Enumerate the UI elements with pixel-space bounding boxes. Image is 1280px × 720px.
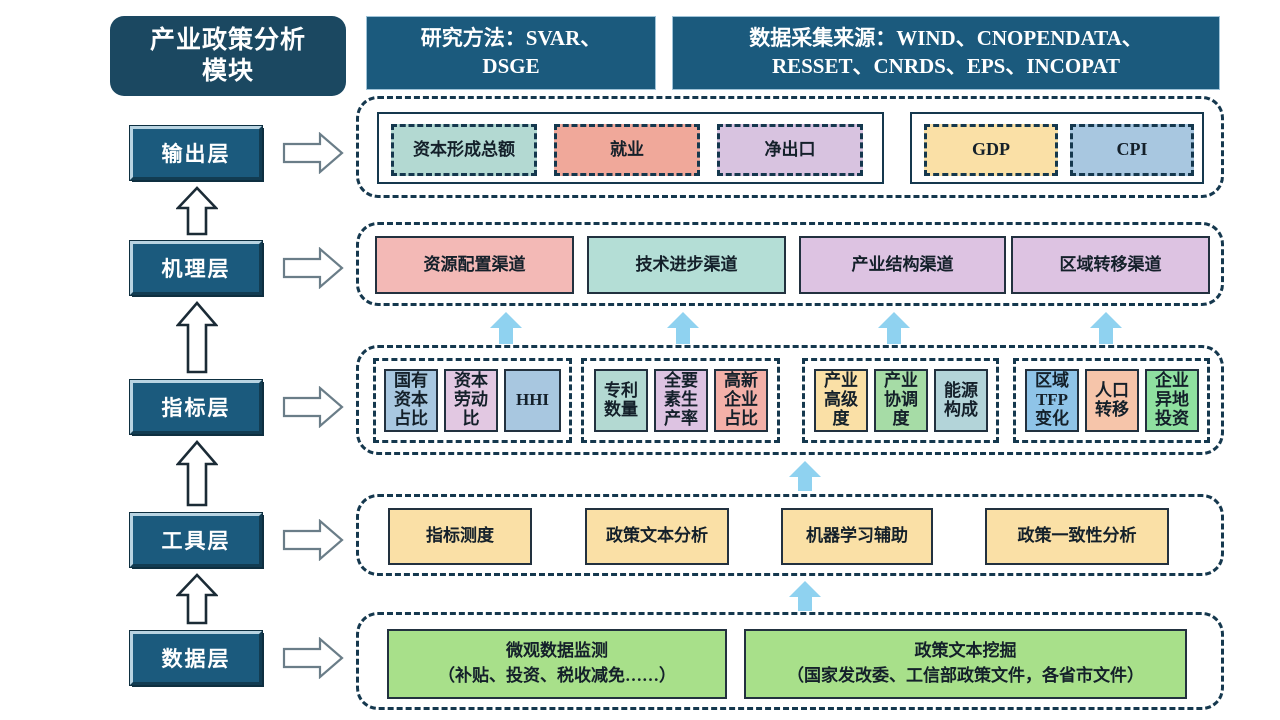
indicator-group-3: 产业高级度 产业协调度 能源构成 [802,358,999,443]
tool-item-indicator-measurement[interactable]: 指标测度 [388,508,532,565]
mechanism-item-industrial-structure[interactable]: 产业结构渠道 [799,236,1006,294]
layer-label-indicator[interactable]: 指标层 [130,380,262,434]
blue-up-arrow-icon [666,311,700,345]
layer-label-tool[interactable]: 工具层 [130,513,262,567]
diagram-canvas: 产业政策分析模块 研究方法：SVAR、DSGE 数据采集来源：WIND、CNOP… [0,0,1280,720]
output-group-domestic: 资本形成总额 就业 净出口 [377,112,884,184]
mechanism-layer-container: 资源配置渠道 技术进步渠道 产业结构渠道 区域转移渠道 [356,222,1224,306]
up-arrow-icon [176,301,218,374]
indicator-item-industry-upgrading[interactable]: 产业高级度 [814,369,868,432]
indicator-item-hhi[interactable]: HHI [504,369,561,432]
layer-label-data[interactable]: 数据层 [130,631,262,685]
indicator-item-state-capital-share[interactable]: 国有资本占比 [384,369,438,432]
indicator-item-regional-tfp-change[interactable]: 区域TFP变化 [1025,369,1079,432]
right-arrow-icon [282,247,344,289]
data-item-policy-text-mining[interactable]: 政策文本挖掘（国家发改委、工信部政策文件，各省市文件） [744,629,1187,699]
right-arrow-icon [282,519,344,561]
tool-item-policy-text-analysis[interactable]: 政策文本分析 [585,508,729,565]
output-layer-container: 资本形成总额 就业 净出口 GDP CPI [356,96,1224,198]
mechanism-item-regional-transfer[interactable]: 区域转移渠道 [1011,236,1210,294]
tool-layer-container: 指标测度 政策文本分析 机器学习辅助 政策一致性分析 [356,494,1224,576]
right-arrow-icon [282,386,344,428]
output-item-capital-formation[interactable]: 资本形成总额 [391,124,537,176]
indicator-item-population-migration[interactable]: 人口转移 [1085,369,1139,432]
up-arrow-icon [176,573,218,625]
layer-label-output[interactable]: 输出层 [130,126,262,180]
up-arrow-icon [176,440,218,507]
blue-up-arrow-icon [1089,311,1123,345]
indicator-item-patent-count[interactable]: 专利数量 [594,369,648,432]
tool-item-policy-consistency[interactable]: 政策一致性分析 [985,508,1169,565]
output-group-macro: GDP CPI [910,112,1204,184]
mechanism-item-tech-progress[interactable]: 技术进步渠道 [587,236,786,294]
data-source-box: 数据采集来源：WIND、CNOPENDATA、RESSET、CNRDS、EPS、… [672,16,1220,90]
indicator-item-energy-mix[interactable]: 能源构成 [934,369,988,432]
output-item-employment[interactable]: 就业 [554,124,700,176]
blue-up-arrow-icon [788,580,822,612]
mechanism-item-resource-allocation[interactable]: 资源配置渠道 [375,236,574,294]
data-layer-container: 微观数据监测（补贴、投资、税收减免……） 政策文本挖掘（国家发改委、工信部政策文… [356,612,1224,710]
indicator-group-1: 国有资本占比 资本劳动比 HHI [373,358,572,443]
indicator-item-capital-labor-ratio[interactable]: 资本劳动比 [444,369,498,432]
data-item-micro-monitoring[interactable]: 微观数据监测（补贴、投资、税收减免……） [387,629,727,699]
blue-up-arrow-icon [788,460,822,492]
indicator-item-industry-coordination[interactable]: 产业协调度 [874,369,928,432]
right-arrow-icon [282,637,344,679]
indicator-item-hightech-firm-share[interactable]: 高新企业占比 [714,369,768,432]
module-title-box: 产业政策分析模块 [110,16,346,96]
indicator-item-crossregion-investment[interactable]: 企业异地投资 [1145,369,1199,432]
research-method-box: 研究方法：SVAR、DSGE [366,16,656,90]
indicator-layer-container: 国有资本占比 资本劳动比 HHI 专利数量 全要素生产率 高新企业占比 产业高级… [356,345,1224,455]
blue-up-arrow-icon [489,311,523,345]
blue-up-arrow-icon [877,311,911,345]
indicator-group-2: 专利数量 全要素生产率 高新企业占比 [581,358,780,443]
tool-item-ml-assistance[interactable]: 机器学习辅助 [781,508,933,565]
output-item-net-export[interactable]: 净出口 [717,124,863,176]
up-arrow-icon [176,186,218,236]
output-item-cpi[interactable]: CPI [1070,124,1194,176]
right-arrow-icon [282,132,344,174]
output-item-gdp[interactable]: GDP [924,124,1058,176]
layer-label-mechanism[interactable]: 机理层 [130,241,262,295]
indicator-group-4: 区域TFP变化 人口转移 企业异地投资 [1013,358,1210,443]
indicator-item-tfp[interactable]: 全要素生产率 [654,369,708,432]
